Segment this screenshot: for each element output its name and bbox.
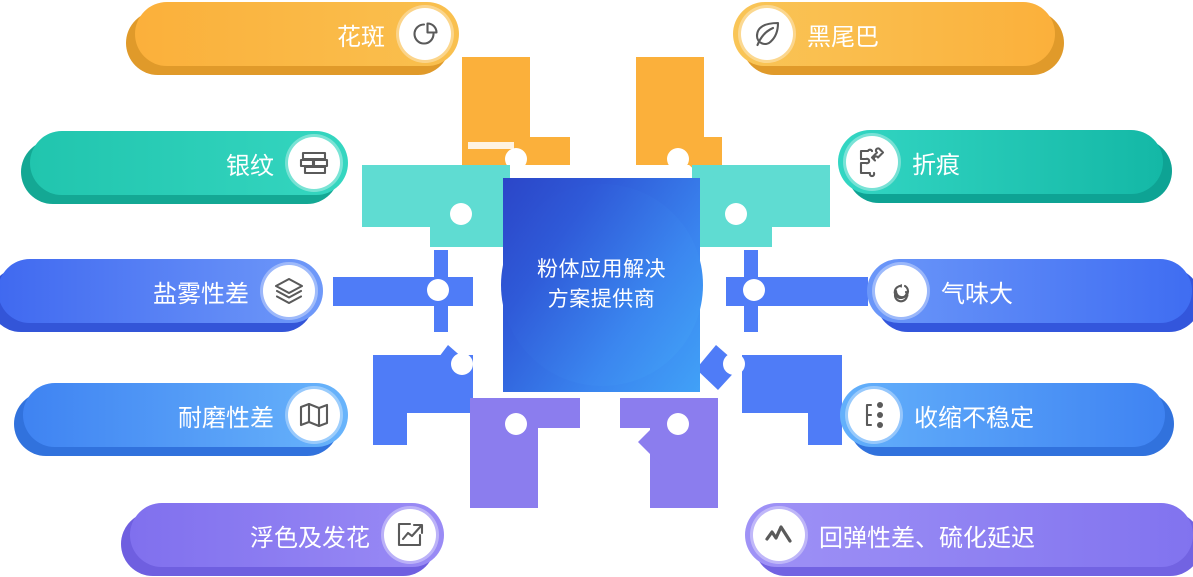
pill-yinwen[interactable]: 银纹 — [30, 131, 348, 195]
chart-arrow-up-icon — [384, 509, 436, 561]
connector-fuse — [470, 398, 580, 508]
connector-yinwen — [362, 165, 510, 247]
layers-icon — [263, 265, 315, 317]
pill-label-qiwei: 气味大 — [941, 274, 1013, 309]
connector-naimo — [373, 345, 473, 445]
pill-qiwei[interactable]: 气味大 — [867, 259, 1192, 323]
pill-huaban[interactable]: 花斑 — [135, 2, 459, 66]
pill-label-huaban: 花斑 — [337, 17, 385, 52]
recycle-icon — [875, 265, 927, 317]
puzzle-icon — [846, 136, 898, 188]
line-chart-icon — [753, 509, 805, 561]
pill-label-fuse: 浮色及发花 — [250, 518, 370, 553]
connector-huitan — [620, 398, 718, 508]
brick-wall-icon — [288, 137, 340, 189]
center-hub-label: 粉体应用解决 方案提供商 — [503, 255, 700, 315]
map-icon — [288, 389, 340, 441]
pill-zhehen[interactable]: 折痕 — [838, 130, 1163, 194]
pill-heiweiba[interactable]: 黑尾巴 — [733, 2, 1055, 66]
leaf-icon — [741, 8, 793, 60]
pill-label-yinwen: 银纹 — [226, 146, 274, 181]
connector-zhehen — [692, 165, 830, 247]
pill-label-yanwu: 盐雾性差 — [153, 274, 249, 309]
pill-label-naimo: 耐磨性差 — [178, 398, 274, 433]
pill-huitan[interactable]: 回弹性差、硫化延迟 — [745, 503, 1193, 567]
pill-yanwu[interactable]: 盐雾性差 — [0, 259, 323, 323]
pill-label-huitan: 回弹性差、硫化延迟 — [819, 518, 1035, 553]
center-hub: 粉体应用解决 方案提供商 — [503, 178, 700, 392]
connector-yanwu — [333, 250, 473, 332]
pill-shousuo[interactable]: 收缩不稳定 — [840, 383, 1165, 447]
pill-label-zhehen: 折痕 — [912, 145, 960, 180]
pie-chart-icon — [399, 8, 451, 60]
connector-qiwei — [726, 250, 868, 332]
pill-naimo[interactable]: 耐磨性差 — [23, 383, 348, 447]
pill-label-heiweiba: 黑尾巴 — [807, 17, 879, 52]
pill-fuse[interactable]: 浮色及发花 — [130, 503, 444, 567]
radial-diagram: 粉体应用解决 方案提供商 花斑银纹盐雾性差耐磨性差浮色及发花黑尾巴折痕气味大收缩… — [0, 0, 1193, 577]
pill-label-shousuo: 收缩不稳定 — [914, 398, 1034, 433]
sitemap-icon — [848, 389, 900, 441]
